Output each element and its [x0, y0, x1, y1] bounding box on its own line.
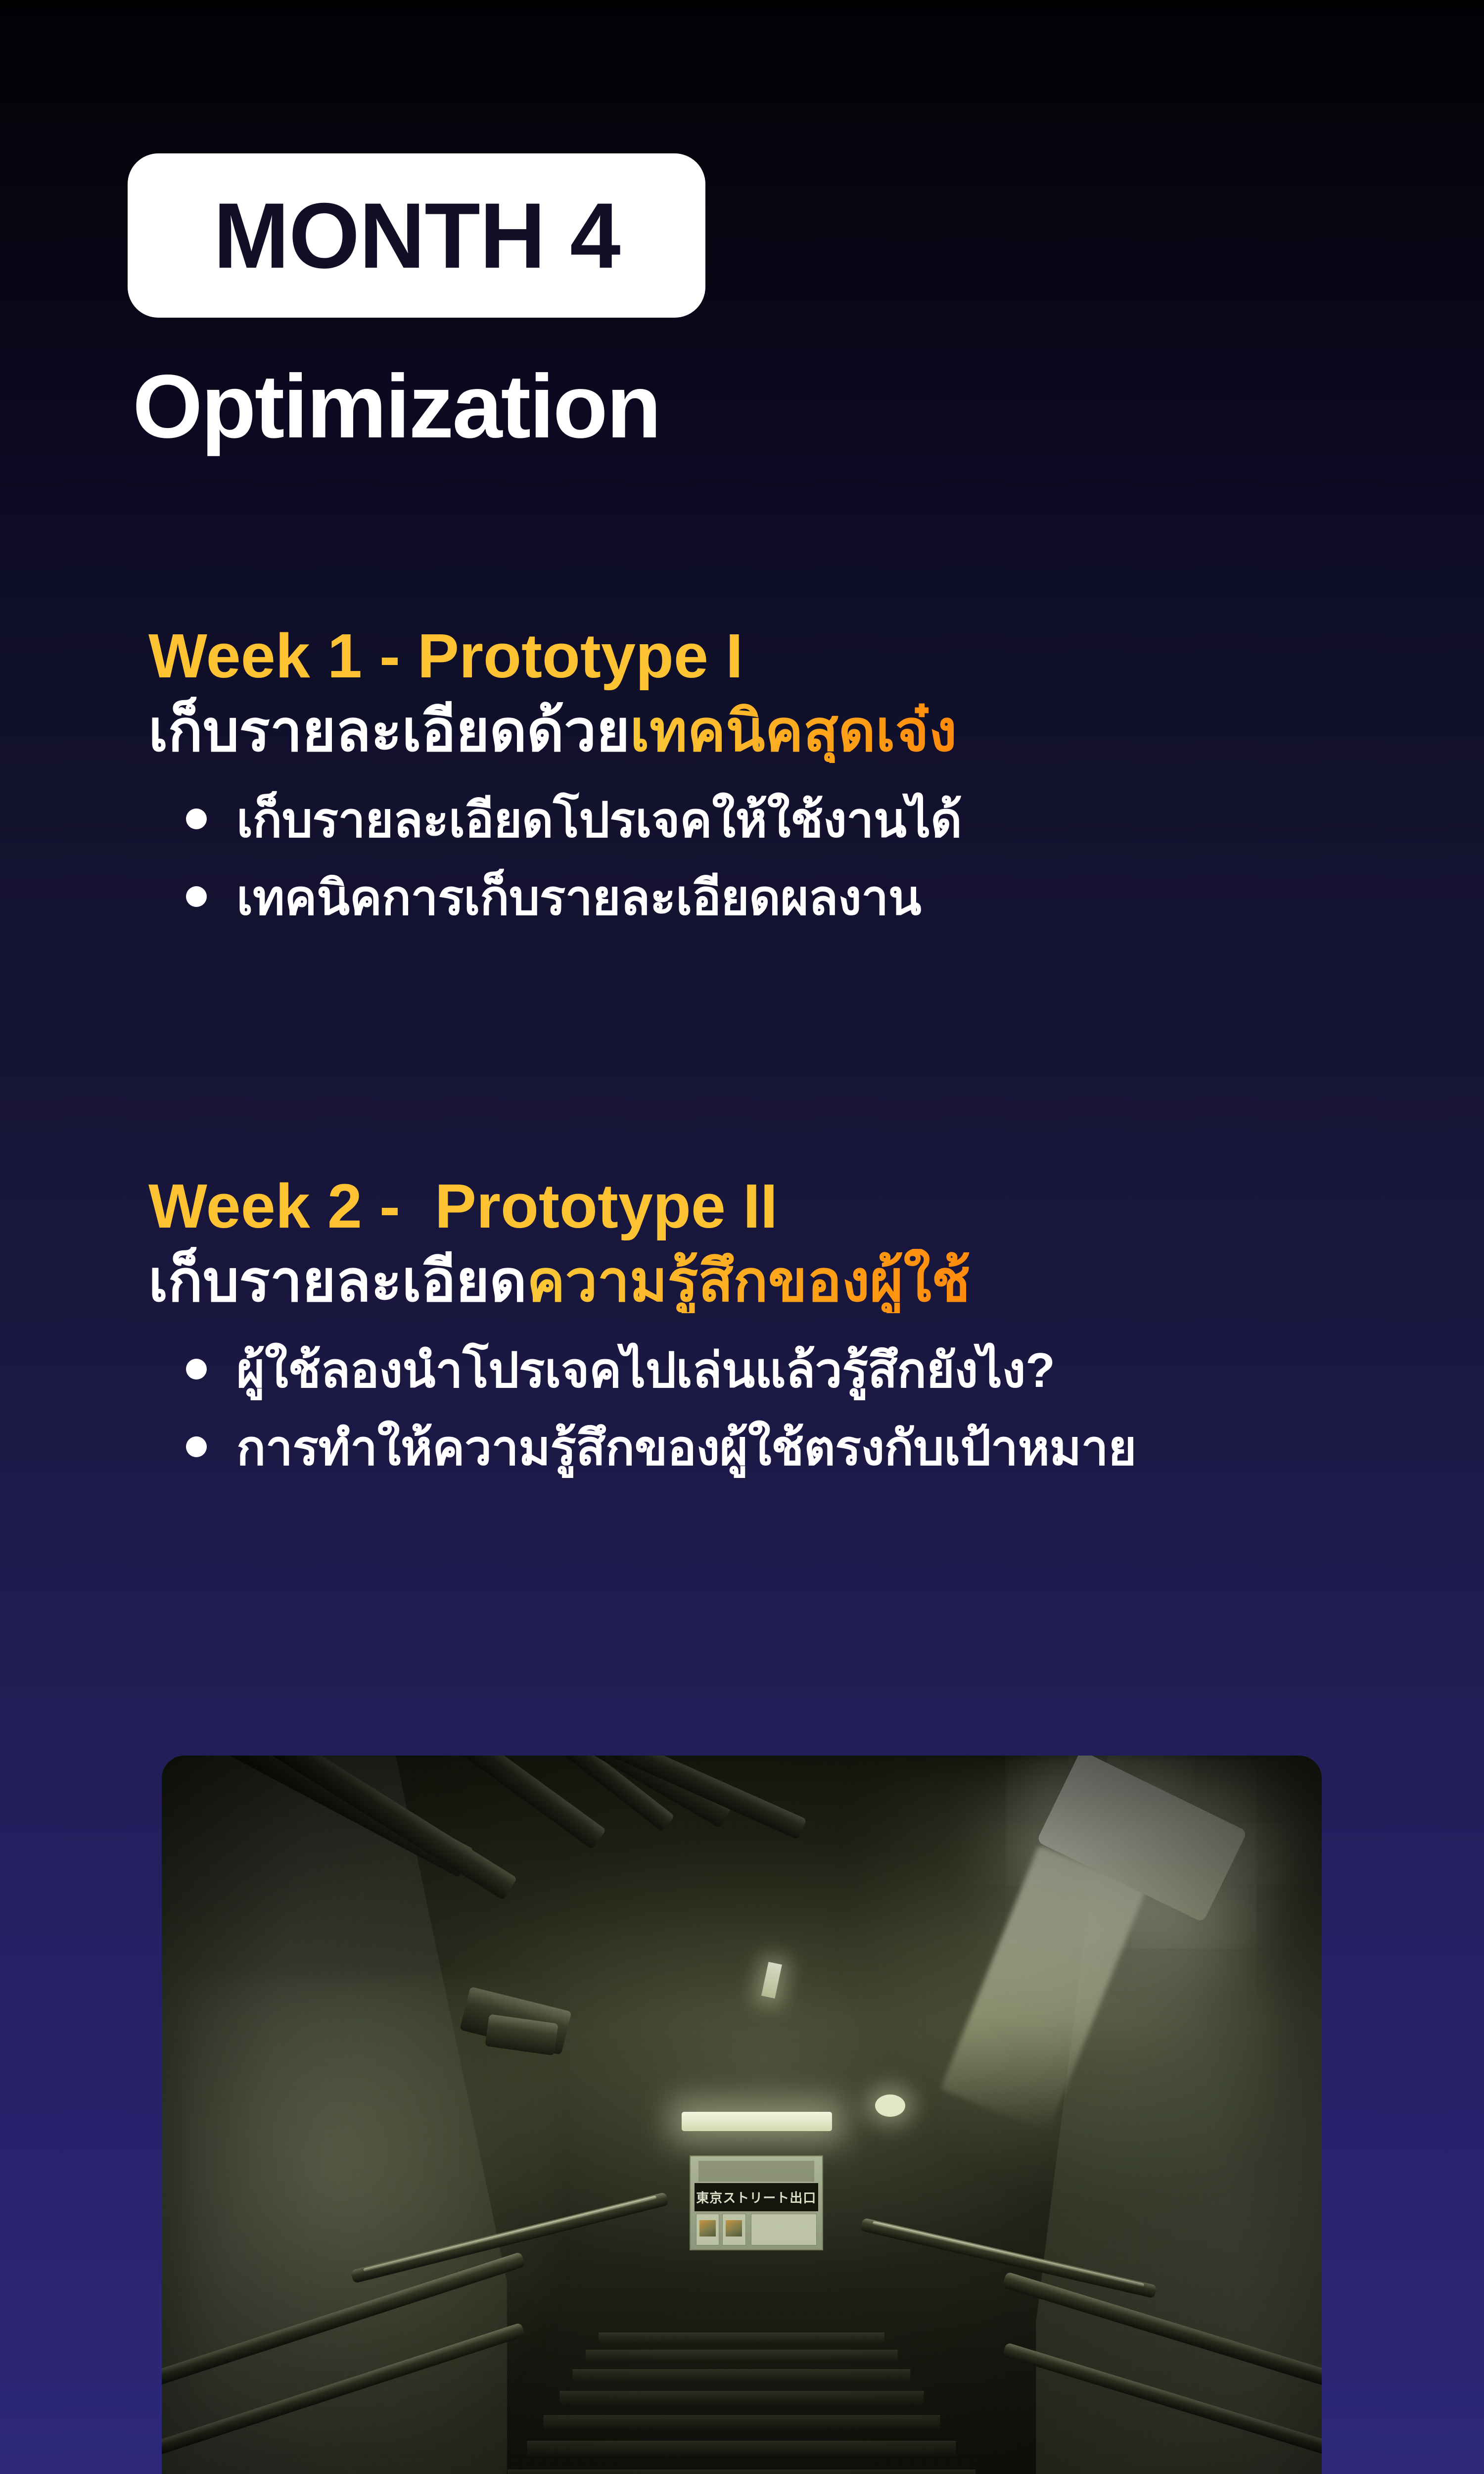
list-item: การทำให้ความรู้สึกของผู้ใช้ตรงกับเป้าหมา… [148, 1417, 1444, 1479]
bullet-dot-icon [186, 1436, 207, 1457]
list-item: เทคนิคการเก็บรายละเอียดผลงาน [148, 866, 1444, 929]
list-item: เก็บรายละเอียดโปรเจคให้ใช้งานได้ [148, 789, 1444, 852]
week-2-subtitle: เก็บรายละเอียดความรู้สึกของผู้ใช้ [148, 1246, 1444, 1317]
list-item: ผู้ใช้ลองนำโปรเจคไปเล่นแล้วรู้สึกยังไง? [148, 1339, 1444, 1402]
week-block-1: Week 1 - Prototype I เก็บรายละเอียดด้วยเ… [148, 622, 1444, 945]
week-2-bullet-list: ผู้ใช้ลองนำโปรเจคไปเล่นแล้วรู้สึกยังไง? … [148, 1339, 1444, 1480]
month-badge-label: MONTH 4 [213, 189, 620, 282]
week-1-bullet-list: เก็บรายละเอียดโปรเจคให้ใช้งานได้ เทคนิคก… [148, 789, 1444, 930]
photo-grain [162, 1756, 1322, 2474]
week-2-heading: Week 2 - Prototype II [148, 1173, 1444, 1240]
bullet-text: เทคนิคการเก็บรายละเอียดผลงาน [236, 866, 921, 929]
month-badge: MONTH 4 [128, 153, 705, 318]
bullet-dot-icon [186, 809, 207, 829]
week-1-heading: Week 1 - Prototype I [148, 622, 1444, 690]
week-1-subtitle-accent: เทคนิคสุดเจ๋ง [630, 699, 957, 763]
bullet-text: ผู้ใช้ลองนำโปรเจคไปเล่นแล้วรู้สึกยังไง? [236, 1339, 1055, 1402]
week-2-subtitle-plain: เก็บรายละเอียด [148, 1249, 527, 1313]
week-1-subtitle-plain: เก็บรายละเอียดด้วย [148, 699, 630, 763]
photo-card: 東京ストリート出口 [162, 1756, 1322, 2474]
bullet-text: เก็บรายละเอียดโปรเจคให้ใช้งานได้ [236, 789, 962, 852]
bullet-dot-icon [186, 886, 207, 907]
bullet-dot-icon [186, 1359, 207, 1380]
subway-staircase-photo: 東京ストリート出口 [162, 1756, 1322, 2474]
week-1-subtitle: เก็บรายละเอียดด้วยเทคนิคสุดเจ๋ง [148, 696, 1444, 767]
week-block-2: Week 2 - Prototype II เก็บรายละเอียดความ… [148, 1173, 1444, 1495]
bullet-text: การทำให้ความรู้สึกของผู้ใช้ตรงกับเป้าหมา… [236, 1417, 1136, 1479]
page-title: Optimization [133, 356, 660, 457]
week-2-subtitle-accent: ความรู้สึกของผู้ใช้ [527, 1249, 971, 1313]
